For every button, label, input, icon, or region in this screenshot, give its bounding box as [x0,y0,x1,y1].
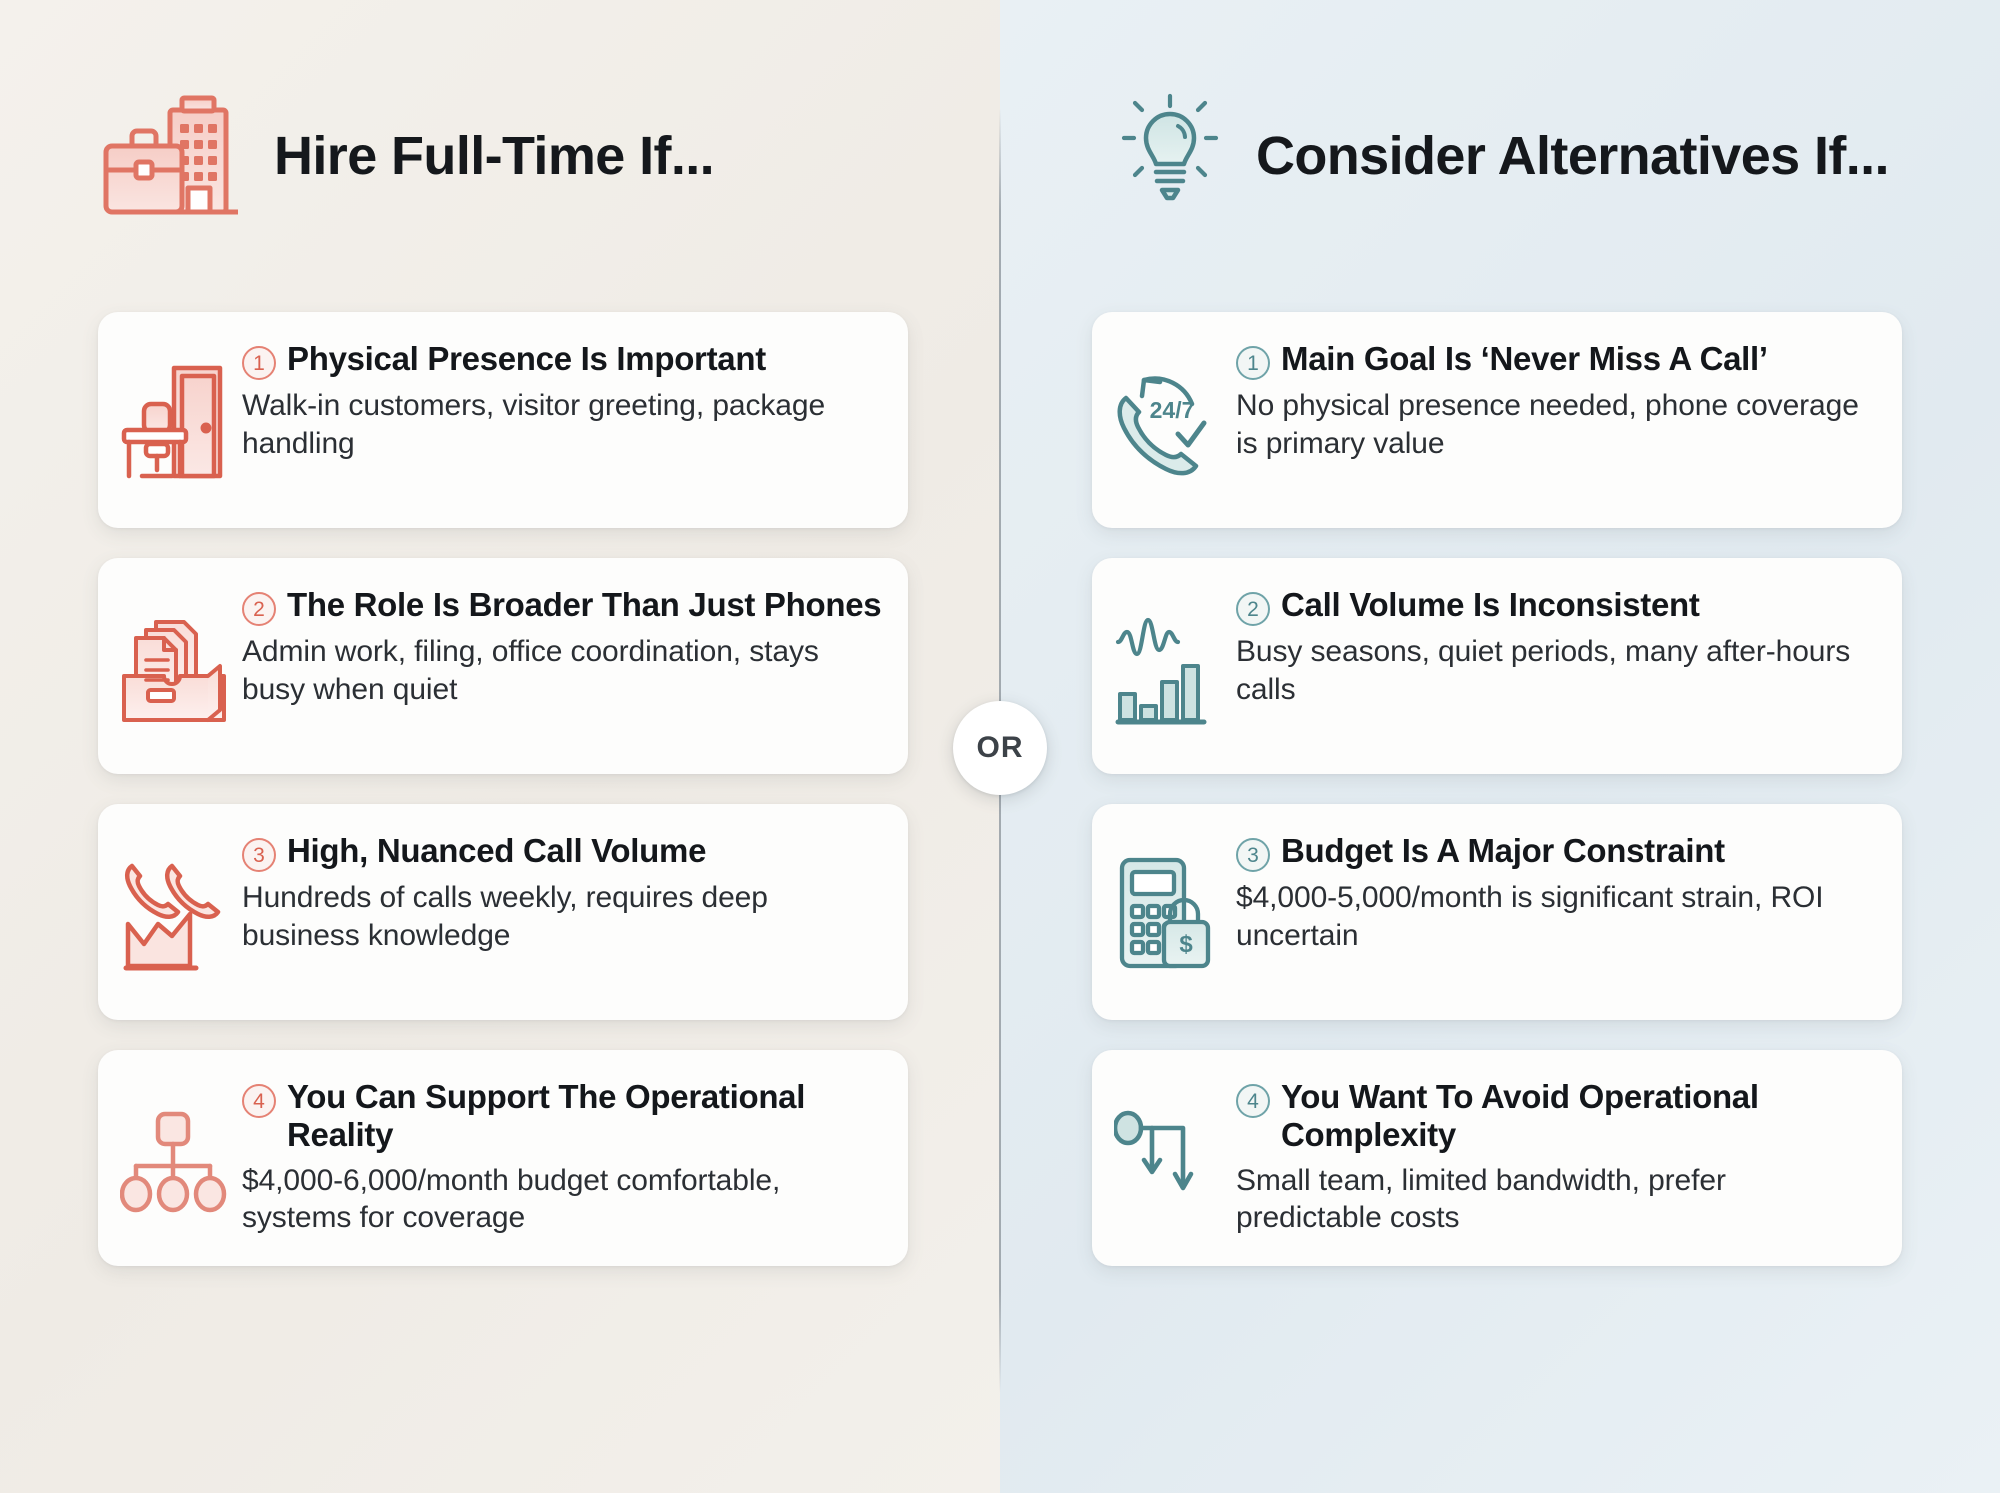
card-right-2-body: 2 Call Volume Is Inconsistent Busy seaso… [1236,582,1876,709]
card-left-2[interactable]: 2 The Role Is Broader Than Just Phones A… [98,558,908,774]
phone-handsets-area-chart-icon [120,850,228,978]
card-right-2[interactable]: 2 Call Volume Is Inconsistent Busy seaso… [1092,558,1902,774]
card-number-badge: 2 [1236,592,1270,626]
card-number-badge: 1 [242,346,276,380]
card-left-1-desc: Walk-in customers, visitor greeting, pac… [242,387,882,463]
card-right-4-title: You Want To Avoid Operational Complexity [1281,1078,1876,1155]
branching-arrows-icon [1114,1096,1222,1224]
lightbulb-icon [1110,92,1230,220]
right-panel-title: Consider Alternatives If... [1256,125,1889,187]
card-right-1-body: 1 Main Goal Is ‘Never Miss A Call’ No ph… [1236,336,1876,463]
card-left-2-desc: Admin work, filing, office coordination,… [242,633,882,709]
card-right-1-title: Main Goal Is ‘Never Miss A Call’ [1281,340,1768,378]
card-right-2-head: 2 Call Volume Is Inconsistent [1236,586,1876,626]
card-number-badge: 4 [242,1084,276,1118]
waveform-bar-chart-icon [1114,604,1222,732]
card-right-1[interactable]: 24/7 1 Main Goal Is ‘Never Miss A Call’ … [1092,312,1902,528]
card-left-3-desc: Hundreds of calls weekly, requires deep … [242,879,882,955]
card-number-badge: 4 [1236,1084,1270,1118]
card-right-1-desc: No physical presence needed, phone cover… [1236,387,1876,463]
svg-text:24/7: 24/7 [1150,397,1195,423]
card-left-4-head: 4 You Can Support The Operational Realit… [242,1078,882,1155]
org-chart-hierarchy-icon [120,1096,228,1224]
right-card-list: 24/7 1 Main Goal Is ‘Never Miss A Call’ … [1000,312,2000,1266]
card-right-1-head: 1 Main Goal Is ‘Never Miss A Call’ [1236,340,1876,380]
card-left-4-desc: $4,000-6,000/month budget comfortable, s… [242,1162,882,1238]
card-right-4-body: 4 You Want To Avoid Operational Complexi… [1236,1074,1876,1237]
card-number-badge: 1 [1236,346,1270,380]
right-panel: Consider Alternatives If... 24/7 [1000,0,2000,1493]
card-left-2-title: The Role Is Broader Than Just Phones [287,586,881,624]
card-left-1[interactable]: 1 Physical Presence Is Important Walk-in… [98,312,908,528]
svg-text:$: $ [1179,931,1193,958]
card-left-3-head: 3 High, Nuanced Call Volume [242,832,882,872]
card-left-1-title: Physical Presence Is Important [287,340,766,378]
card-right-3-desc: $4,000-5,000/month is significant strain… [1236,879,1876,955]
card-number-badge: 3 [242,838,276,872]
card-right-4-head: 4 You Want To Avoid Operational Complexi… [1236,1078,1876,1155]
calculator-lock-dollar-icon: $ [1114,850,1222,978]
card-right-3-title: Budget Is A Major Constraint [1281,832,1725,870]
left-panel-header: Hire Full-Time If... [0,92,1000,220]
phone-24-7-check-icon: 24/7 [1114,358,1222,486]
card-left-1-head: 1 Physical Presence Is Important [242,340,882,380]
card-right-3-body: 3 Budget Is A Major Constraint $4,000-5,… [1236,828,1876,955]
card-right-3[interactable]: $ 3 Budget Is A Major Constraint $4,000-… [1092,804,1902,1020]
right-panel-header: Consider Alternatives If... [1000,92,2000,220]
left-card-list: 1 Physical Presence Is Important Walk-in… [0,312,1000,1266]
or-badge: OR [953,701,1047,795]
left-panel-title: Hire Full-Time If... [274,125,714,187]
card-number-badge: 3 [1236,838,1270,872]
infographic-canvas: Hire Full-Time If... [0,0,2000,1493]
card-left-1-body: 1 Physical Presence Is Important Walk-in… [242,336,882,463]
card-left-4-title: You Can Support The Operational Reality [287,1078,882,1155]
card-left-2-body: 2 The Role Is Broader Than Just Phones A… [242,582,882,709]
filing-box-documents-icon [120,604,228,732]
card-right-2-title: Call Volume Is Inconsistent [1281,586,1700,624]
card-left-3[interactable]: 3 High, Nuanced Call Volume Hundreds of … [98,804,908,1020]
briefcase-office-building-icon [98,92,248,220]
card-right-3-head: 3 Budget Is A Major Constraint [1236,832,1876,872]
left-panel: Hire Full-Time If... [0,0,1000,1493]
card-left-3-title: High, Nuanced Call Volume [287,832,706,870]
card-left-4-body: 4 You Can Support The Operational Realit… [242,1074,882,1237]
card-left-3-body: 3 High, Nuanced Call Volume Hundreds of … [242,828,882,955]
card-left-2-head: 2 The Role Is Broader Than Just Phones [242,586,882,626]
card-number-badge: 2 [242,592,276,626]
reception-desk-door-icon [120,358,228,486]
card-left-4[interactable]: 4 You Can Support The Operational Realit… [98,1050,908,1266]
card-right-4[interactable]: 4 You Want To Avoid Operational Complexi… [1092,1050,1902,1266]
card-right-2-desc: Busy seasons, quiet periods, many after-… [1236,633,1876,709]
card-right-4-desc: Small team, limited bandwidth, prefer pr… [1236,1162,1876,1238]
